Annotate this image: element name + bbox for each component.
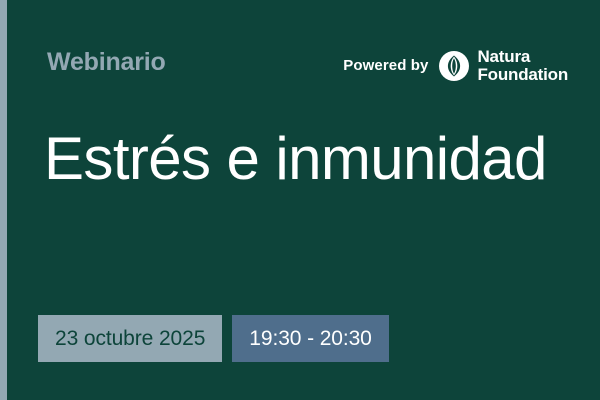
natura-leaf-circle-icon	[439, 51, 469, 81]
left-accent-bar	[0, 0, 7, 400]
powered-by-label: Powered by	[343, 57, 428, 74]
detail-chips: 23 octubre 2025 19:30 - 20:30	[38, 315, 389, 362]
brand-name-line2: Foundation	[477, 66, 568, 84]
powered-by-group: Powered by Natura Foundation	[343, 48, 568, 83]
brand-name: Natura Foundation	[477, 48, 568, 83]
date-badge: 23 octubre 2025	[38, 315, 222, 362]
time-badge: 19:30 - 20:30	[232, 315, 388, 362]
page-title: Estrés e inmunidad	[44, 124, 564, 194]
brand-lockup: Natura Foundation	[439, 48, 568, 83]
webinar-banner: Webinario Powered by Natura Foundation E…	[0, 0, 600, 400]
brand-name-line1: Natura	[477, 48, 568, 66]
eyebrow-label: Webinario	[47, 48, 166, 77]
